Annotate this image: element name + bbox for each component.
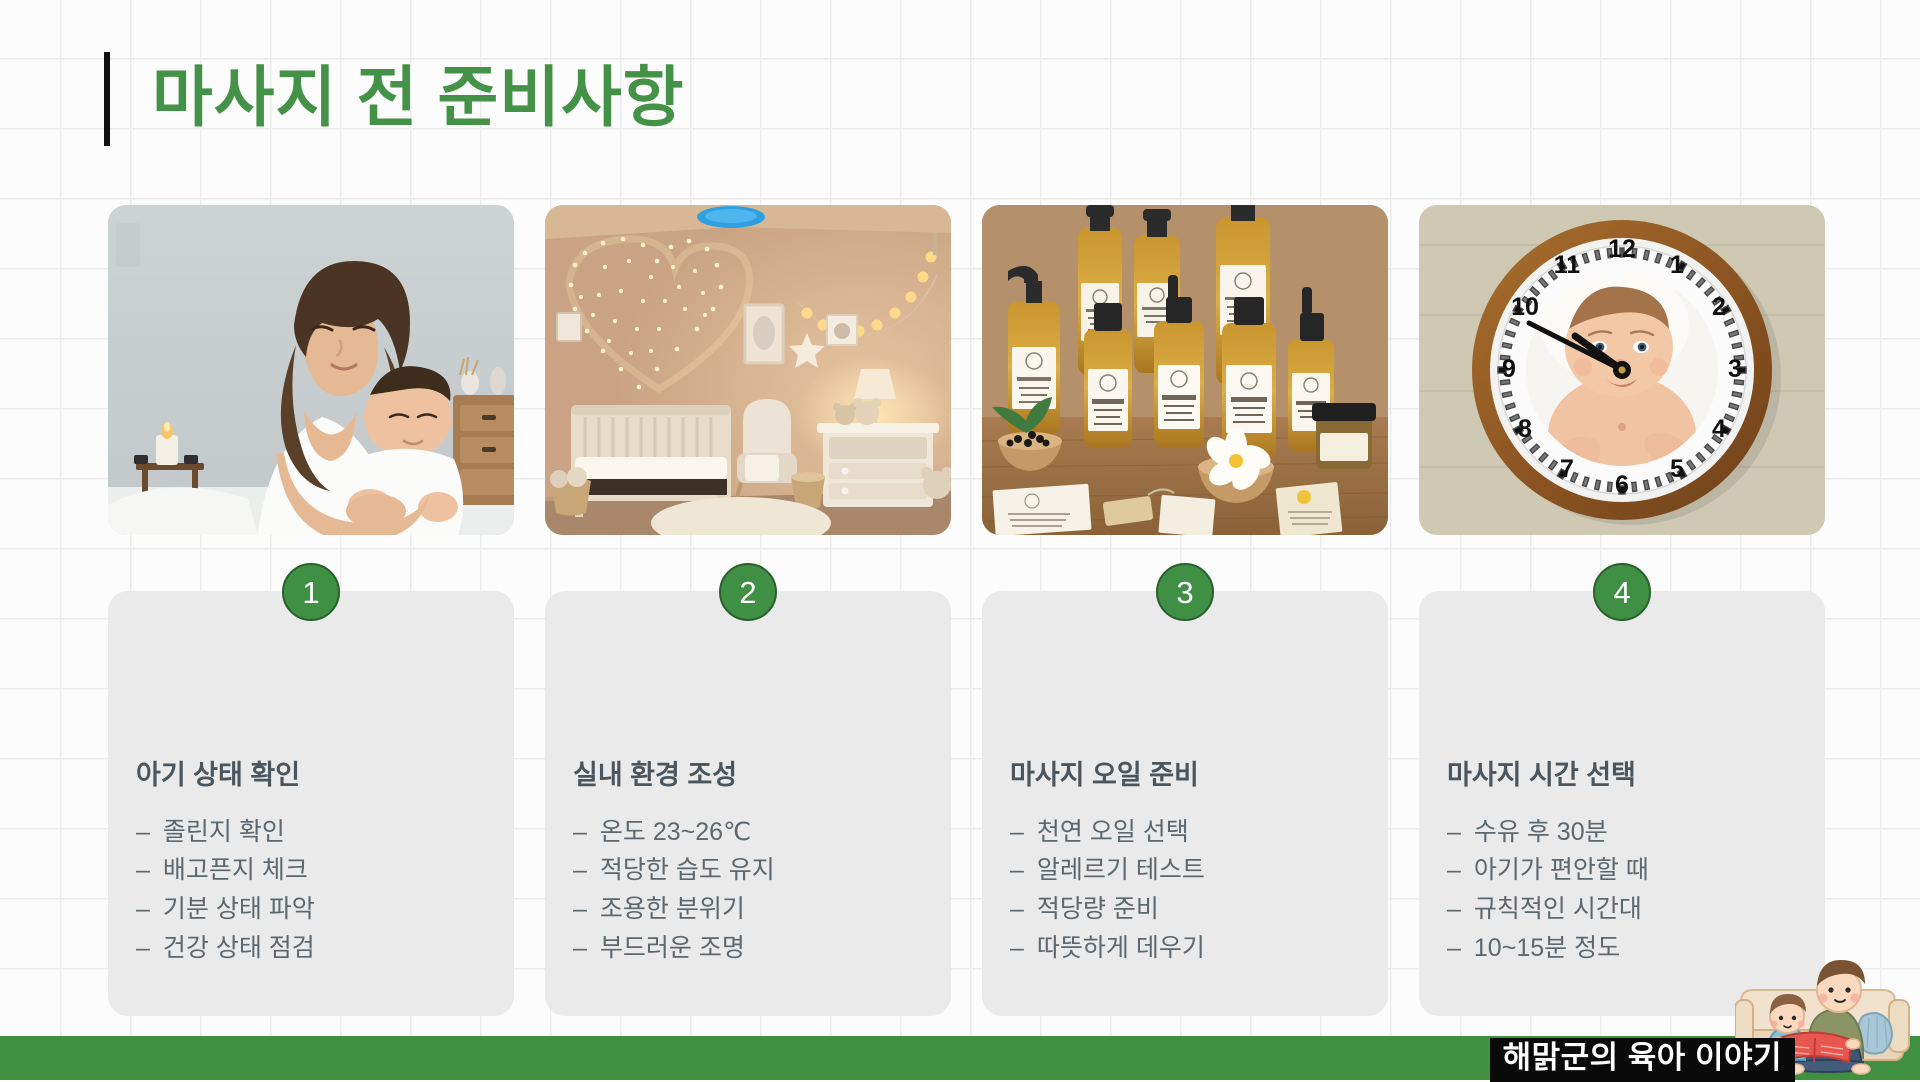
- card-title-2: 실내 환경 조성: [573, 761, 951, 791]
- list-item: –조용한 분위기: [573, 890, 951, 929]
- bullet-dash: –: [573, 813, 587, 852]
- bullet-text: 조용한 분위기: [600, 890, 745, 929]
- bullet-text: 배고픈지 체크: [163, 851, 308, 890]
- brand-plate: 해맑군의 육아 이야기: [1490, 1038, 1795, 1082]
- list-item: –부드러운 조명: [573, 929, 951, 968]
- list-item: –알레르기 테스트: [1010, 851, 1388, 890]
- bullet-text: 따뜻하게 데우기: [1037, 929, 1205, 968]
- svg-text:2: 2: [1712, 293, 1726, 321]
- info-card-1: 아기 상태 확인 –졸린지 확인 –배고픈지 체크 –기분 상태 파악 –건강 …: [108, 591, 514, 1016]
- list-item: –기분 상태 파악: [136, 890, 514, 929]
- bullet-text: 규칙적인 시간대: [1474, 890, 1642, 929]
- bullet-dash: –: [136, 929, 150, 968]
- list-item: –따뜻하게 데우기: [1010, 929, 1388, 968]
- bullet-dash: –: [1010, 813, 1024, 852]
- bullet-dash: –: [573, 851, 587, 890]
- bullet-dash: –: [1447, 890, 1461, 929]
- preparation-column-1: 1 아기 상태 확인 –졸린지 확인 –배고픈지 체크 –기분 상태 파악 –건…: [108, 205, 514, 535]
- bullet-dash: –: [1447, 813, 1461, 852]
- bullet-text: 10~15분 정도: [1474, 929, 1620, 968]
- svg-text:1: 1: [1670, 251, 1684, 279]
- bullet-dash: –: [1010, 929, 1024, 968]
- preparation-column-3: 3 마사지 오일 준비 –천연 오일 선택 –알레르기 테스트 –적당량 준비 …: [982, 205, 1388, 535]
- step-badge-4: 4: [1593, 563, 1651, 621]
- bullet-dash: –: [1447, 929, 1461, 968]
- page-title: 마사지 전 준비사항: [152, 64, 684, 130]
- bullet-dash: –: [1447, 851, 1461, 890]
- bullet-text: 적당한 습도 유지: [600, 851, 775, 890]
- photo-nursery-room: [545, 205, 951, 535]
- bullet-dash: –: [573, 929, 587, 968]
- svg-text:6: 6: [1615, 471, 1629, 499]
- bullet-text: 건강 상태 점검: [163, 929, 315, 968]
- svg-text:8: 8: [1518, 415, 1532, 443]
- bullet-text: 수유 후 30분: [1474, 813, 1608, 852]
- list-item: –졸린지 확인: [136, 813, 514, 852]
- bullet-dash: –: [1010, 851, 1024, 890]
- step-badge-2: 2: [719, 563, 777, 621]
- list-item: –아기가 편안할 때: [1447, 851, 1825, 890]
- bullet-dash: –: [1010, 890, 1024, 929]
- bullet-text: 적당량 준비: [1037, 890, 1159, 929]
- svg-text:5: 5: [1670, 455, 1684, 483]
- svg-text:7: 7: [1560, 455, 1574, 483]
- list-item: –규칙적인 시간대: [1447, 890, 1825, 929]
- svg-text:12: 12: [1608, 235, 1636, 263]
- preparation-column-4: 12 1 2 3 4 5 6 7 8 9 10 11: [1419, 205, 1825, 535]
- brand-name: 해맑군의 육아 이야기: [1503, 1042, 1782, 1075]
- bullet-dash: –: [136, 813, 150, 852]
- list-item: –건강 상태 점검: [136, 929, 514, 968]
- svg-text:3: 3: [1728, 355, 1742, 383]
- photo-clock-with-baby: 12 1 2 3 4 5 6 7 8 9 10 11: [1419, 205, 1825, 535]
- card-bullets-1: –졸린지 확인 –배고픈지 체크 –기분 상태 파악 –건강 상태 점검: [136, 813, 514, 968]
- bullet-text: 부드러운 조명: [600, 929, 745, 968]
- preparation-column-2: 2 실내 환경 조성 –온도 23~26℃ –적당한 습도 유지 –조용한 분위…: [545, 205, 951, 535]
- svg-text:11: 11: [1554, 251, 1581, 279]
- svg-text:4: 4: [1712, 415, 1726, 443]
- photo-mother-holding-baby: [108, 205, 514, 535]
- bullet-dash: –: [136, 890, 150, 929]
- bullet-text: 졸린지 확인: [163, 813, 285, 852]
- photo-massage-oils: [982, 205, 1388, 535]
- card-title-4: 마사지 시간 선택: [1447, 761, 1825, 791]
- card-title-3: 마사지 오일 준비: [1010, 761, 1388, 791]
- list-item: –배고픈지 체크: [136, 851, 514, 890]
- svg-text:9: 9: [1502, 355, 1516, 383]
- info-card-2: 실내 환경 조성 –온도 23~26℃ –적당한 습도 유지 –조용한 분위기 …: [545, 591, 951, 1016]
- card-bullets-3: –천연 오일 선택 –알레르기 테스트 –적당량 준비 –따뜻하게 데우기: [1010, 813, 1388, 968]
- bullet-text: 아기가 편안할 때: [1474, 851, 1649, 890]
- list-item: –수유 후 30분: [1447, 813, 1825, 852]
- list-item: –적당한 습도 유지: [573, 851, 951, 890]
- card-bullets-2: –온도 23~26℃ –적당한 습도 유지 –조용한 분위기 –부드러운 조명: [573, 813, 951, 968]
- title-accent-bar: [104, 52, 110, 146]
- bullet-text: 알레르기 테스트: [1037, 851, 1205, 890]
- info-card-3: 마사지 오일 준비 –천연 오일 선택 –알레르기 테스트 –적당량 준비 –따…: [982, 591, 1388, 1016]
- card-title-1: 아기 상태 확인: [136, 761, 514, 791]
- bullet-text: 기분 상태 파악: [163, 890, 315, 929]
- bullet-text: 천연 오일 선택: [1037, 813, 1189, 852]
- slide-canvas: 마사지 전 준비사항: [0, 0, 1920, 1080]
- bullet-dash: –: [573, 890, 587, 929]
- bullet-text: 온도 23~26℃: [600, 813, 751, 852]
- step-badge-1: 1: [282, 563, 340, 621]
- list-item: –적당량 준비: [1010, 890, 1388, 929]
- bullet-dash: –: [136, 851, 150, 890]
- list-item: –온도 23~26℃: [573, 813, 951, 852]
- title-block: 마사지 전 준비사항: [104, 52, 684, 146]
- list-item: –천연 오일 선택: [1010, 813, 1388, 852]
- step-badge-3: 3: [1156, 563, 1214, 621]
- svg-text:10: 10: [1511, 293, 1539, 321]
